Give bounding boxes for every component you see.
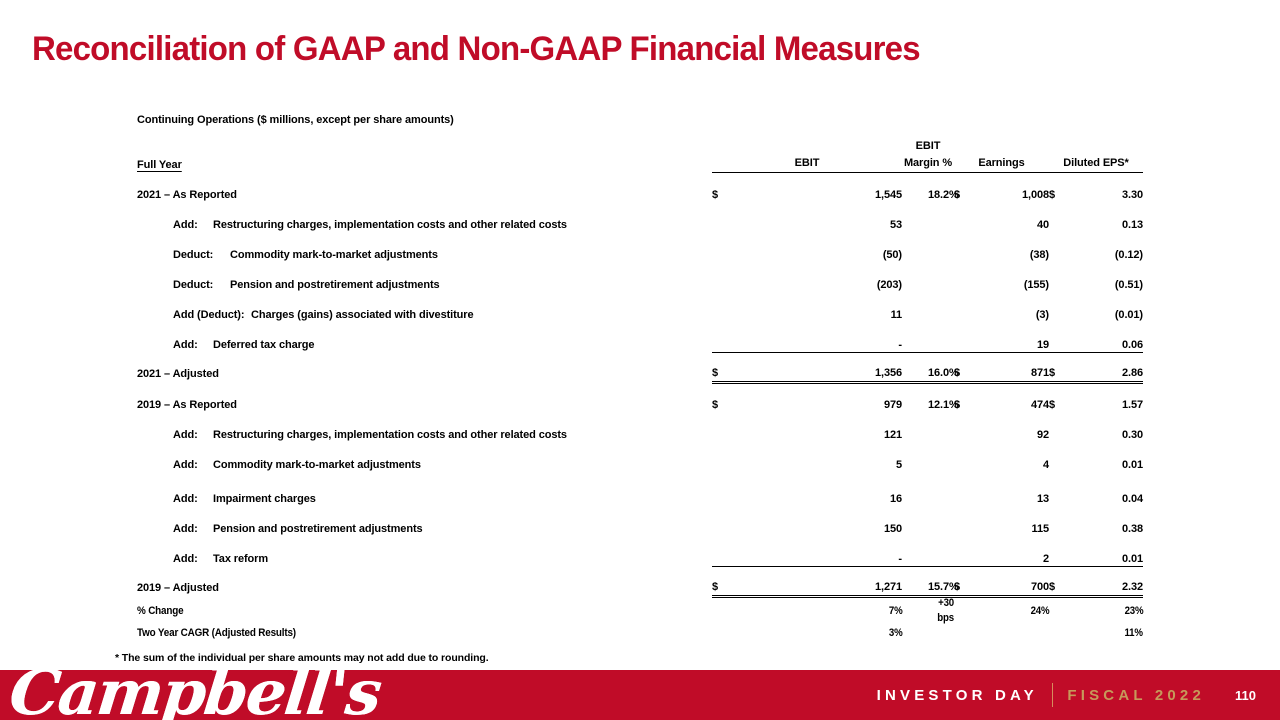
cell-earnings: 4 (980, 442, 1049, 472)
cell-margin-pad (902, 536, 928, 566)
summary-diluted-eps: 11% (1075, 626, 1143, 641)
cell-earnings: (3) (980, 292, 1049, 322)
cell-ebit-margin: 18.2% (928, 172, 954, 202)
cell-earnings: 40 (980, 202, 1049, 232)
cell-margin-pad (902, 292, 928, 322)
row-adjustment-type: Deduct: (173, 279, 230, 292)
footer-divider (1052, 683, 1054, 707)
table-row: Add:Restructuring charges, implementatio… (137, 412, 1143, 442)
cell-margin-pad (902, 202, 928, 232)
cell-earnings: 92 (980, 412, 1049, 442)
table-row: Add:Impairment charges16130.04 (137, 472, 1143, 506)
summary-table-body: % Change7%+30 bps24%23%Two Year CAGR (Ad… (137, 596, 1143, 641)
cell-ebit-margin (928, 472, 954, 506)
summary-diluted-eps-text: 11% (1125, 626, 1143, 641)
cell-margin-pad (902, 472, 928, 506)
header-ebit-margin-top: EBIT (902, 137, 954, 155)
row-label-text: Pension and postretirement adjustments (230, 279, 440, 291)
fiscal-year-label: FISCAL 2022 (1067, 687, 1205, 704)
summary-pad (902, 626, 928, 641)
cell-margin-pad (902, 322, 928, 352)
cell-ebit-margin: 16.0% (928, 352, 954, 382)
cell-currency-eps: $ (1049, 566, 1075, 596)
page-number: 110 (1235, 688, 1256, 703)
cell-diluted-eps: 0.06 (1075, 322, 1143, 352)
cell-ebit: 150 (736, 506, 902, 536)
cell-currency-ebit (712, 442, 736, 472)
cell-earnings: 13 (980, 472, 1049, 506)
summary-spacer-cur (712, 596, 736, 626)
row-adjustment-type: Add: (173, 429, 213, 442)
cell-currency-earnings (954, 442, 980, 472)
cell-currency-earnings (954, 506, 980, 536)
summary-pad (902, 596, 928, 626)
cell-earnings: 115 (980, 506, 1049, 536)
cell-earnings: 1,008 (980, 172, 1049, 202)
cell-currency-eps (1049, 202, 1075, 232)
row-label: 2021 – As Reported (137, 172, 712, 202)
summary-ebit-margin: +30 bps (928, 596, 954, 626)
cell-currency-eps (1049, 232, 1075, 262)
table-section-row: 2021 – As Reported$1,54518.2%$1,008$3.30 (137, 172, 1143, 202)
cell-earnings: 474 (980, 382, 1049, 412)
summary-row: Two Year CAGR (Adjusted Results)3%11% (137, 626, 1143, 641)
cell-currency-eps (1049, 262, 1075, 292)
header-spacer-eps (1075, 137, 1143, 155)
financial-table-container: Continuing Operations ($ millions, excep… (137, 114, 1147, 598)
cell-currency-eps (1049, 322, 1075, 352)
table-row: Add:Pension and postretirement adjustmen… (137, 506, 1143, 536)
cell-currency-earnings: $ (954, 172, 980, 202)
header-full-year: Full Year (137, 155, 712, 172)
cell-currency-eps (1049, 292, 1075, 322)
slide-footer: Campbell's INVESTOR DAY FISCAL 2022 110 (0, 670, 1280, 720)
cell-margin-pad (902, 352, 928, 382)
cell-diluted-eps: 1.57 (1075, 382, 1143, 412)
cell-currency-eps: $ (1049, 172, 1075, 202)
cell-currency-eps (1049, 442, 1075, 472)
cell-ebit-margin (928, 506, 954, 536)
summary-ebit-margin-text: +30 bps (931, 596, 954, 626)
row-label-text: Commodity mark-to-market adjustments (213, 459, 421, 471)
cell-diluted-eps: 0.04 (1075, 472, 1143, 506)
cell-diluted-eps: 0.01 (1075, 442, 1143, 472)
cell-ebit-margin (928, 412, 954, 442)
cell-currency-eps: $ (1049, 382, 1075, 412)
row-label-text: Deferred tax charge (213, 339, 314, 351)
cell-ebit-margin: 15.7% (928, 566, 954, 596)
cell-currency-ebit: $ (712, 566, 736, 596)
cell-currency-earnings (954, 232, 980, 262)
cell-currency-ebit (712, 322, 736, 352)
header-ebit: EBIT (712, 155, 902, 172)
cell-ebit-margin (928, 262, 954, 292)
row-label: Add:Restructuring charges, implementatio… (137, 202, 712, 232)
row-label-text: Restructuring charges, implementation co… (213, 219, 567, 231)
cell-currency-eps (1049, 472, 1075, 506)
cell-margin-pad (902, 506, 928, 536)
summary-spacer-cur3 (1049, 626, 1075, 641)
row-label: Deduct:Commodity mark-to-market adjustme… (137, 232, 712, 262)
cell-currency-earnings (954, 262, 980, 292)
header-spacer-cur3 (1049, 137, 1075, 155)
cell-ebit: 11 (736, 292, 902, 322)
cell-currency-ebit (712, 412, 736, 442)
table-row: Add:Commodity mark-to-market adjustments… (137, 442, 1143, 472)
footer-right-group: INVESTOR DAY FISCAL 2022 110 (877, 670, 1256, 720)
cell-ebit-margin (928, 232, 954, 262)
cell-currency-ebit (712, 292, 736, 322)
table-row: Add (Deduct):Charges (gains) associated … (137, 292, 1143, 322)
table-header-row: Full YearEBITMargin %EarningsDiluted EPS… (137, 155, 1143, 172)
cell-diluted-eps: 2.32 (1075, 566, 1143, 596)
cell-earnings: 700 (980, 566, 1049, 596)
header-earnings: Earnings (954, 155, 1049, 172)
row-label: Add (Deduct):Charges (gains) associated … (137, 292, 712, 322)
cell-ebit-margin (928, 322, 954, 352)
cell-margin-pad (902, 412, 928, 442)
full-year-label: Full Year (137, 159, 182, 171)
header-ebit-margin: Margin % (902, 155, 954, 172)
header-spacer-cur2 (954, 137, 980, 155)
summary-row-label-text: % Change (137, 604, 183, 619)
cell-diluted-eps: 0.01 (1075, 536, 1143, 566)
table-caption: Continuing Operations ($ millions, excep… (137, 114, 1147, 126)
cell-currency-ebit (712, 506, 736, 536)
cell-earnings: (155) (980, 262, 1049, 292)
table-total-row: 2021 – Adjusted$1,35616.0%$871$2.86 (137, 352, 1143, 382)
cell-earnings: 19 (980, 322, 1049, 352)
row-label: 2021 – Adjusted (137, 352, 712, 382)
summary-table: % Change7%+30 bps24%23%Two Year CAGR (Ad… (137, 596, 1143, 641)
row-adjustment-type: Add: (173, 553, 213, 566)
table-row: Deduct:Pension and postretirement adjust… (137, 262, 1143, 292)
summary-spacer-cur3 (1049, 596, 1075, 626)
header-diluted-eps: Diluted EPS* (1049, 155, 1143, 172)
cell-ebit-margin (928, 536, 954, 566)
row-label: 2019 – As Reported (137, 382, 712, 412)
row-adjustment-type: Add: (173, 523, 213, 536)
summary-ebit: 3% (736, 626, 902, 641)
cell-diluted-eps: 3.30 (1075, 172, 1143, 202)
row-label-text: Restructuring charges, implementation co… (213, 429, 567, 441)
summary-row-label-text: Two Year CAGR (Adjusted Results) (137, 626, 296, 641)
investor-day-label: INVESTOR DAY (877, 687, 1038, 704)
row-label: Deduct:Pension and postretirement adjust… (137, 262, 712, 292)
cell-currency-ebit: $ (712, 352, 736, 382)
cell-currency-ebit (712, 536, 736, 566)
row-label-text: Charges (gains) associated with divestit… (251, 309, 473, 321)
cell-currency-ebit: $ (712, 172, 736, 202)
cell-currency-ebit (712, 232, 736, 262)
cell-currency-eps (1049, 412, 1075, 442)
cell-currency-earnings: $ (954, 566, 980, 596)
row-adjustment-type: Add: (173, 219, 213, 232)
row-label: Add:Commodity mark-to-market adjustments (137, 442, 712, 472)
table-body: EBITFull YearEBITMargin %EarningsDiluted… (137, 137, 1143, 596)
cell-currency-earnings (954, 292, 980, 322)
cell-ebit: - (736, 536, 902, 566)
cell-diluted-eps: 2.86 (1075, 352, 1143, 382)
row-label-text: Pension and postretirement adjustments (213, 523, 423, 535)
header-spacer-ebit (736, 137, 902, 155)
summary-row-label: Two Year CAGR (Adjusted Results) (137, 626, 712, 641)
campbells-logo: Campbell's (6, 656, 383, 720)
row-label: Add:Pension and postretirement adjustmen… (137, 506, 712, 536)
cell-diluted-eps: (0.12) (1075, 232, 1143, 262)
table-header-row-top: EBIT (137, 137, 1143, 155)
slide-root: Reconciliation of GAAP and Non-GAAP Fina… (0, 0, 1280, 720)
cell-ebit: 53 (736, 202, 902, 232)
summary-ebit: 7% (736, 596, 902, 626)
row-adjustment-type: Add: (173, 459, 213, 472)
summary-earnings: 24% (980, 596, 1049, 626)
cell-margin-pad (902, 566, 928, 596)
summary-row: % Change7%+30 bps24%23% (137, 596, 1143, 626)
cell-margin-pad (902, 172, 928, 202)
table-row: Deduct:Commodity mark-to-market adjustme… (137, 232, 1143, 262)
table-row: Add:Restructuring charges, implementatio… (137, 202, 1143, 232)
summary-earnings-text: 24% (1030, 604, 1049, 619)
row-adjustment-type: Add: (173, 493, 213, 506)
summary-diluted-eps-text: 23% (1124, 604, 1143, 619)
cell-ebit: 1,356 (736, 352, 902, 382)
row-adjustment-type: Deduct: (173, 249, 230, 262)
row-adjustment-type: Add (Deduct): (173, 309, 251, 322)
cell-diluted-eps: 0.38 (1075, 506, 1143, 536)
cell-diluted-eps: (0.51) (1075, 262, 1143, 292)
cell-earnings: 871 (980, 352, 1049, 382)
cell-ebit: (203) (736, 262, 902, 292)
cell-diluted-eps: (0.01) (1075, 292, 1143, 322)
cell-margin-pad (902, 382, 928, 412)
table-row: Add:Deferred tax charge-190.06 (137, 322, 1143, 352)
page-title: Reconciliation of GAAP and Non-GAAP Fina… (32, 30, 920, 69)
cell-earnings: 2 (980, 536, 1049, 566)
cell-ebit-margin (928, 442, 954, 472)
cell-margin-pad (902, 232, 928, 262)
row-label: Add:Deferred tax charge (137, 322, 712, 352)
row-label: Add:Impairment charges (137, 472, 712, 506)
summary-spacer-cur2 (954, 626, 980, 641)
reconciliation-table: EBITFull YearEBITMargin %EarningsDiluted… (137, 137, 1143, 598)
cell-ebit: 979 (736, 382, 902, 412)
cell-margin-pad (902, 262, 928, 292)
cell-ebit-margin (928, 292, 954, 322)
cell-ebit-margin: 12.1% (928, 382, 954, 412)
cell-currency-ebit: $ (712, 382, 736, 412)
cell-currency-ebit (712, 262, 736, 292)
summary-spacer-cur2 (954, 596, 980, 626)
row-label: Add:Restructuring charges, implementatio… (137, 412, 712, 442)
row-adjustment-type: Add: (173, 339, 213, 352)
cell-currency-eps (1049, 536, 1075, 566)
cell-ebit: 1,545 (736, 172, 902, 202)
cell-currency-earnings (954, 536, 980, 566)
table-total-row: 2019 – Adjusted$1,27115.7%$700$2.32 (137, 566, 1143, 596)
summary-ebit-text: 7% (888, 604, 902, 619)
table-section-row: 2019 – As Reported$97912.1%$474$1.57 (137, 382, 1143, 412)
cell-ebit: 16 (736, 472, 902, 506)
cell-ebit: 1,271 (736, 566, 902, 596)
summary-diluted-eps: 23% (1075, 596, 1143, 626)
table-row: Add:Tax reform-20.01 (137, 536, 1143, 566)
cell-earnings: (38) (980, 232, 1049, 262)
summary-rows-container: % Change7%+30 bps24%23%Two Year CAGR (Ad… (137, 596, 1147, 641)
summary-spacer-cur (712, 626, 736, 641)
cell-currency-ebit (712, 472, 736, 506)
summary-ebit-text: 3% (888, 626, 902, 641)
cell-ebit: (50) (736, 232, 902, 262)
cell-currency-earnings: $ (954, 352, 980, 382)
cell-currency-ebit (712, 202, 736, 232)
cell-diluted-eps: 0.30 (1075, 412, 1143, 442)
header-spacer-earn (980, 137, 1049, 155)
cell-ebit: - (736, 322, 902, 352)
cell-ebit-margin (928, 202, 954, 232)
header-spacer-cur (712, 137, 736, 155)
cell-margin-pad (902, 442, 928, 472)
cell-currency-earnings (954, 202, 980, 232)
cell-diluted-eps: 0.13 (1075, 202, 1143, 232)
summary-earnings (980, 626, 1049, 641)
row-label: Add:Tax reform (137, 536, 712, 566)
row-label-text: Tax reform (213, 553, 268, 565)
cell-currency-eps (1049, 506, 1075, 536)
summary-row-label: % Change (137, 596, 712, 626)
cell-ebit: 121 (736, 412, 902, 442)
cell-currency-earnings (954, 322, 980, 352)
cell-currency-earnings (954, 412, 980, 442)
cell-currency-earnings: $ (954, 382, 980, 412)
row-label-text: Commodity mark-to-market adjustments (230, 249, 438, 261)
cell-currency-eps: $ (1049, 352, 1075, 382)
row-label-text: Impairment charges (213, 493, 316, 505)
summary-ebit-margin (928, 626, 954, 641)
cell-ebit: 5 (736, 442, 902, 472)
cell-currency-earnings (954, 472, 980, 506)
header-spacer (137, 137, 712, 155)
row-label: 2019 – Adjusted (137, 566, 712, 596)
